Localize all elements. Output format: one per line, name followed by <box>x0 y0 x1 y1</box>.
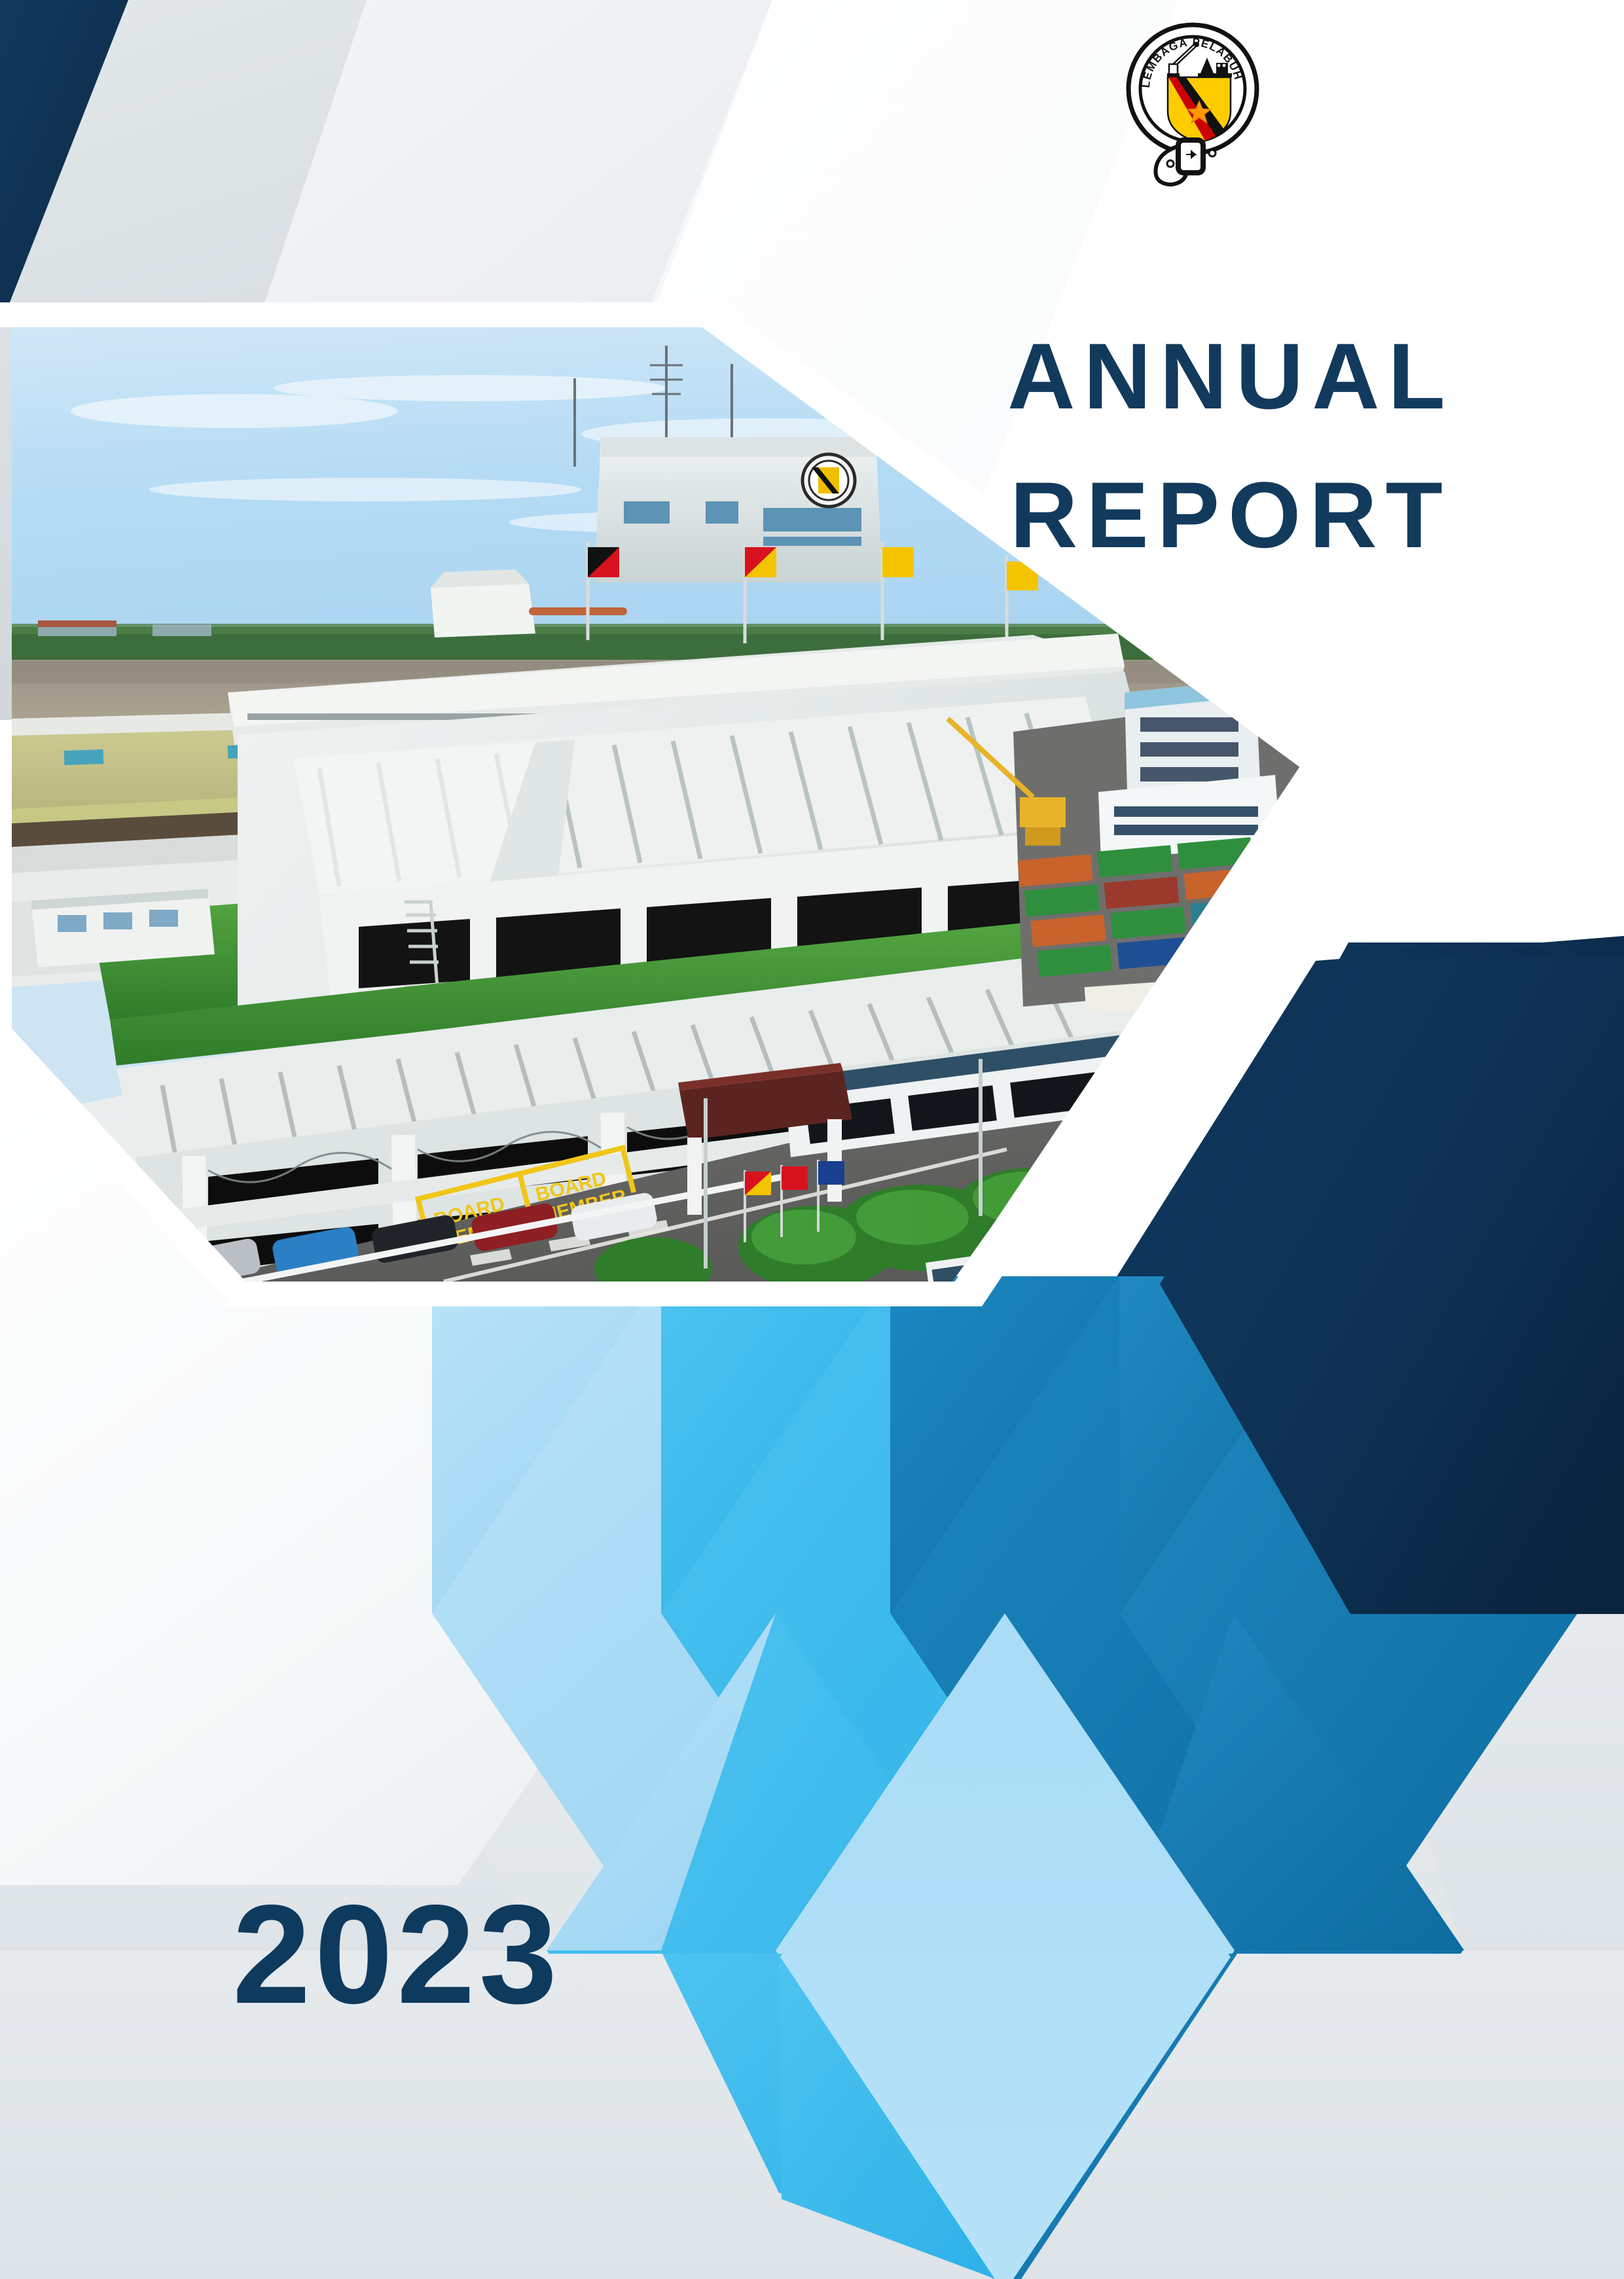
annual-report-cover: LEMBAGA PELABUHAN RAJANG <box>0 0 1624 2279</box>
page-title: ANNUAL REPORT <box>982 308 1479 584</box>
title-line-report: REPORT <box>982 446 1479 585</box>
title-line-annual: ANNUAL <box>982 308 1479 446</box>
report-year: 2023 <box>232 1884 561 2024</box>
organisation-logo: LEMBAGA PELABUHAN RAJANG <box>1108 18 1278 195</box>
